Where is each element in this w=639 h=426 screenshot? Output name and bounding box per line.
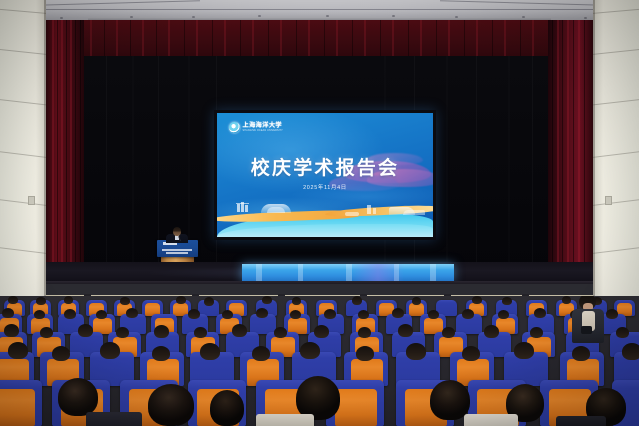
screen-title: 校庆学术报告会 [217,153,433,180]
wall-left [0,0,46,300]
screen-logo-cn: 上海海洋大学 [243,123,283,129]
wall-outlet [605,196,612,205]
auditorium-photo: 上海海洋大学 SHANGHAI OCEAN UNIVERSITY 校庆学术报告会… [0,0,639,426]
university-seal-icon [229,122,240,133]
screen-logo-en: SHANGHAI OCEAN UNIVERSITY [243,130,283,132]
stage-curtain-right [548,20,593,272]
screen-logo: 上海海洋大学 SHANGHAI OCEAN UNIVERSITY [229,122,283,133]
wall-right [593,0,639,300]
screen-date: 2025年11月4日 [217,183,433,191]
stage-front-led-strip [242,264,454,281]
standing-photographer [570,296,606,350]
stage-curtain-left [46,20,84,272]
led-screen: 上海海洋大学 SHANGHAI OCEAN UNIVERSITY 校庆学术报告会… [217,113,433,237]
audience-seating [0,296,639,426]
wall-outlet [28,196,35,205]
speaker-head [173,227,181,236]
